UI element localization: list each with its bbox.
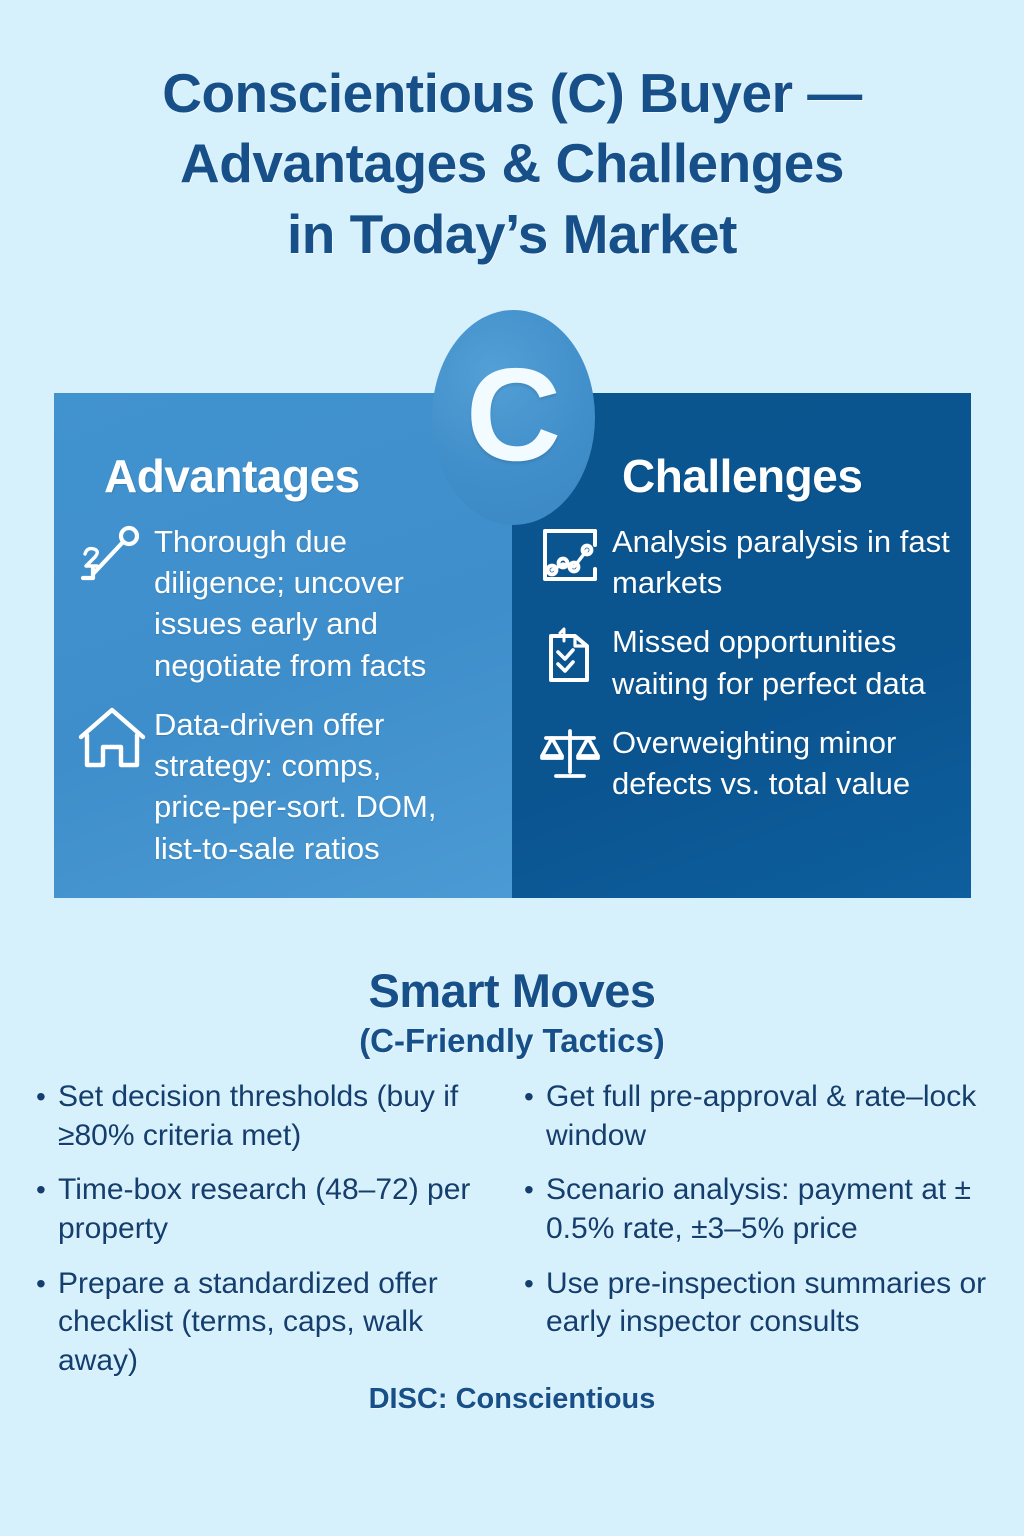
house-outline-icon <box>74 700 150 776</box>
page-title-line-2: Advantages & Challenges <box>0 128 1024 198</box>
list-item-text: Use pre-inspection summaries or early in… <box>546 1265 996 1342</box>
advantages-list: Thorough due diligence; uncover issues e… <box>54 517 512 869</box>
disc-c-badge: C <box>432 310 595 525</box>
list-item-text: Data-driven offer strategy: comps, price… <box>154 700 454 869</box>
bullet-glyph: • <box>524 1265 546 1342</box>
trend-line-magnifier-icon <box>74 517 150 593</box>
list-item-text: Prepare a standardized offer checklist (… <box>58 1265 508 1381</box>
balance-scales-icon <box>532 718 608 794</box>
challenges-list: Analysis paralysis in fast markets Misse… <box>512 517 971 804</box>
chart-frame-dots-icon <box>532 517 608 593</box>
smart-moves-tactics: • Set decision thresholds (buy if ≥80% c… <box>36 1078 996 1397</box>
smart-moves-header: Smart Moves (C-Friendly Tactics) <box>0 963 1024 1060</box>
clipboard-checklist-icon <box>532 617 608 693</box>
list-item: Data-driven offer strategy: comps, price… <box>54 700 512 869</box>
list-item-text: Overweighting minor defects vs. total va… <box>612 718 960 804</box>
list-item-text: Thorough due diligence; uncover issues e… <box>154 517 454 686</box>
list-item: • Time-box research (48–72) per property <box>36 1171 508 1248</box>
footer-label: DISC: Conscientious <box>0 1383 1024 1416</box>
list-item: Overweighting minor defects vs. total va… <box>512 718 971 804</box>
disc-c-badge-letter: C <box>466 349 561 481</box>
list-item-text: Get full pre-approval & rate–lock window <box>546 1078 996 1155</box>
list-item-text: Set decision thresholds (buy if ≥80% cri… <box>58 1078 508 1155</box>
bullet-glyph: • <box>524 1078 546 1155</box>
list-item-text: Analysis paralysis in fast markets <box>612 517 960 603</box>
list-item: • Get full pre-approval & rate–lock wind… <box>524 1078 996 1155</box>
list-item-text: Time-box research (48–72) per property <box>58 1171 508 1248</box>
list-item: Analysis paralysis in fast markets <box>512 517 971 603</box>
list-item: • Set decision thresholds (buy if ≥80% c… <box>36 1078 508 1155</box>
page-title: Conscientious (C) Buyer — Advantages & C… <box>0 58 1024 269</box>
bullet-glyph: • <box>524 1171 546 1248</box>
list-item-text: Missed opportunities waiting for perfect… <box>612 617 960 703</box>
page-title-line-3: in Today’s Market <box>0 199 1024 269</box>
page-title-line-1: Conscientious (C) Buyer — <box>0 58 1024 128</box>
tactics-right-column: • Get full pre-approval & rate–lock wind… <box>524 1078 996 1397</box>
list-item: Missed opportunities waiting for perfect… <box>512 617 971 703</box>
smart-moves-title: Smart Moves <box>0 963 1024 1018</box>
list-item: Thorough due diligence; uncover issues e… <box>54 517 512 686</box>
bullet-glyph: • <box>36 1171 58 1248</box>
tactics-left-column: • Set decision thresholds (buy if ≥80% c… <box>36 1078 508 1397</box>
smart-moves-subtitle: (C-Friendly Tactics) <box>0 1022 1024 1060</box>
bullet-glyph: • <box>36 1078 58 1155</box>
challenges-heading: Challenges <box>622 449 971 503</box>
list-item: • Scenario analysis: payment at ± 0.5% r… <box>524 1171 996 1248</box>
list-item-text: Scenario analysis: payment at ± 0.5% rat… <box>546 1171 996 1248</box>
bullet-glyph: • <box>36 1265 58 1381</box>
list-item: • Use pre-inspection summaries or early … <box>524 1265 996 1342</box>
list-item: • Prepare a standardized offer checklist… <box>36 1265 508 1381</box>
